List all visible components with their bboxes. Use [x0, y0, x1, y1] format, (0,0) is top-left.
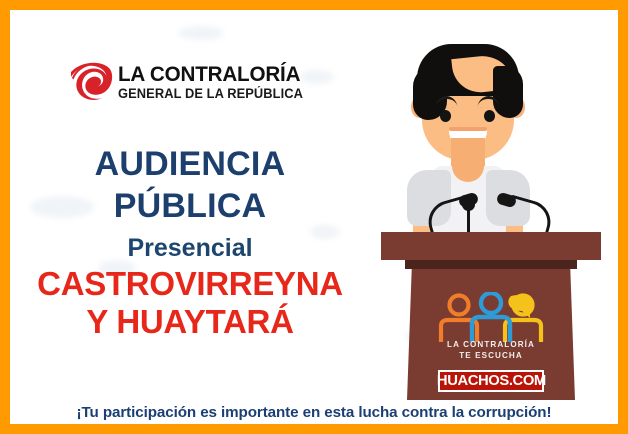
microphone-center-head-icon	[462, 196, 475, 211]
speaker-illustration: LA CONTRALORÍA TE ESCUCHA HUACHOS.COM	[365, 10, 618, 400]
te-escucha-figures-icon	[427, 292, 555, 344]
huachos-badge[interactable]: HUACHOS.COM	[438, 370, 544, 392]
logo-line-2: GENERAL DE LA REPÚBLICA	[118, 87, 303, 100]
heading-huaytara: Y HUAYTARÁ	[10, 304, 370, 339]
text-column: LA CONTRALORÍA GENERAL DE LA REPÚBLICA A…	[10, 10, 370, 400]
hair-sideburn-right	[493, 66, 523, 118]
eye-left	[440, 110, 451, 122]
upper-lip	[449, 127, 487, 131]
huachos-badge-label: HUACHOS.COM	[437, 373, 546, 389]
poster-canvas: LA CONTRALORÍA GENERAL DE LA REPÚBLICA A…	[0, 0, 628, 434]
bottom-banner: ¡Tu participación es importante en esta …	[10, 400, 618, 424]
logo-wordmark: LA CONTRALORÍA GENERAL DE LA REPÚBLICA	[118, 64, 311, 101]
contraloria-logo: LA CONTRALORÍA GENERAL DE LA REPÚBLICA	[10, 58, 370, 106]
heading-audiencia: AUDIENCIA	[10, 146, 370, 182]
contraloria-swoosh-icon	[69, 58, 115, 106]
banner-message: ¡Tu participación es importante en esta …	[77, 404, 552, 421]
emblem-caption-line-1: LA CONTRALORÍA	[407, 340, 575, 349]
podium-underside-shadow	[405, 260, 577, 269]
podium-top-slab	[381, 232, 601, 260]
heading-publica: PÚBLICA	[10, 188, 370, 224]
emblem-caption-line-2: TE ESCUCHA	[407, 351, 575, 360]
heading-presencial: Presencial	[10, 234, 370, 262]
heading-castrovirreyna: CASTROVIRREYNA	[10, 266, 370, 301]
logo-line-1: LA CONTRALORÍA	[118, 64, 303, 86]
poster-inner-white-area: LA CONTRALORÍA GENERAL DE LA REPÚBLICA A…	[10, 10, 618, 400]
eye-right	[484, 110, 495, 122]
